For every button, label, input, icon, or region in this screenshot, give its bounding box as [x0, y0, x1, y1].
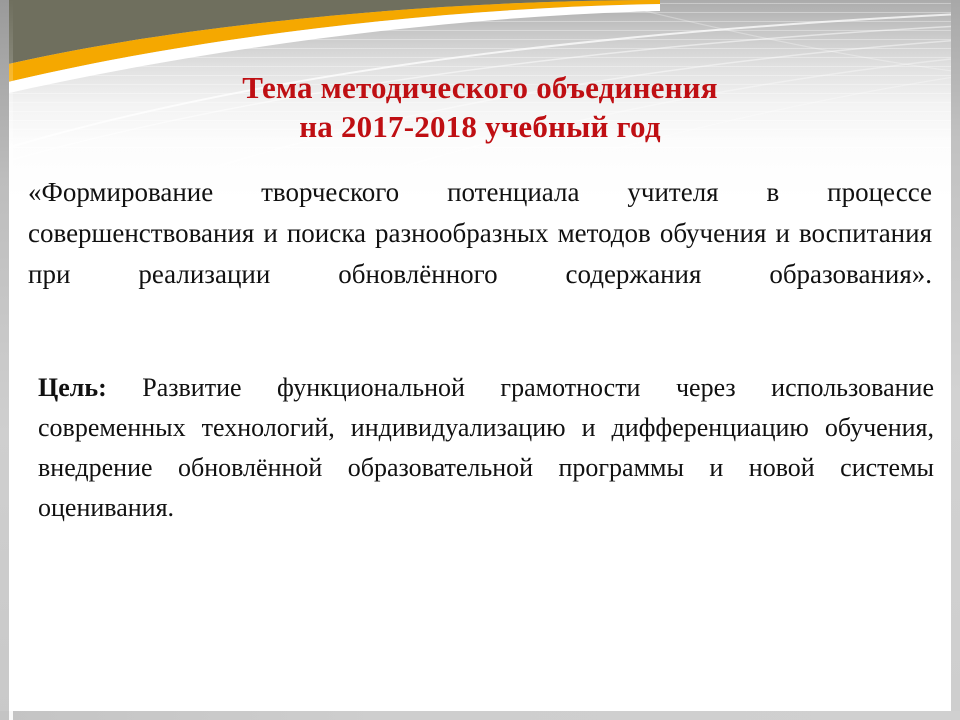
- goal-paragraph: Цель: Развитие функциональной грамотност…: [38, 368, 934, 568]
- slide-border-bottom: [0, 711, 960, 720]
- goal-label: Цель:: [38, 373, 107, 402]
- slide-title: Тема методического объединения на 2017-2…: [0, 68, 960, 146]
- slide-title-line-1: Тема методического объединения: [0, 68, 960, 107]
- methodical-theme-paragraph: «Формирование творческого потенциала учи…: [28, 172, 932, 336]
- slide-canvas: Тема методического объединения на 2017-2…: [0, 0, 960, 720]
- slide-title-line-2: на 2017-2018 учебный год: [0, 107, 960, 146]
- goal-text: Развитие функциональной грамотности чере…: [38, 373, 934, 522]
